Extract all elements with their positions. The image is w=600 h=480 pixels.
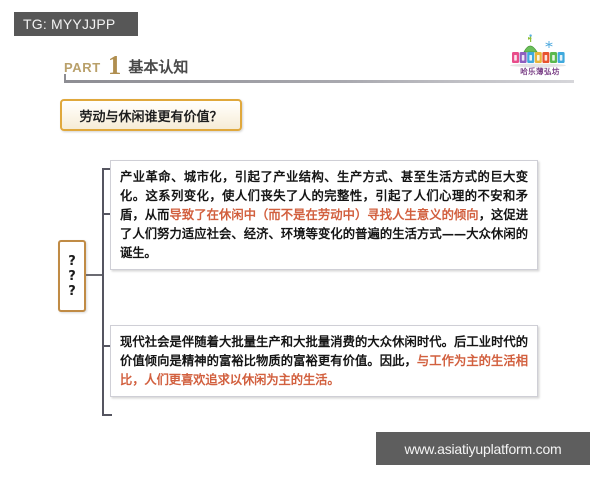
content-box-2: 现代社会是伴随着大批量生产和大批量消费的大众休闲时代。后工业时代的价值倾向是精神… (110, 325, 538, 397)
footer-url-bar: www.asiatiyuplatform.com (376, 432, 590, 465)
question-mark-2: ? (68, 269, 76, 284)
part-heading: PART 1 基本认知 (64, 48, 188, 79)
question-mark-3: ? (68, 284, 76, 299)
footer-url-text: www.asiatiyuplatform.com (404, 441, 561, 457)
question-banner-text: 劳动与休闲谁更有价值？ (79, 106, 222, 125)
bracket-arm-bottom (102, 414, 112, 416)
question-mark-box: ? ? ? (58, 240, 86, 312)
highlighted-run: 导致了在休闲中（而不是在劳动中）寻找人生意义的倾向 (169, 208, 478, 222)
logo-caption: 哈乐薄弘坊 (504, 66, 576, 77)
part-label: PART (64, 60, 101, 75)
brand-logo: 哈乐薄弘坊 (504, 32, 576, 80)
question-banner: 劳动与休闲谁更有价值？ (60, 99, 242, 131)
telegram-watermark-badge: TG: MYYJJPP (14, 12, 138, 36)
part-title: 基本认知 (128, 56, 188, 77)
slide-canvas: TG: MYYJJPP PART 1 基本认知 (0, 0, 600, 480)
content-box-1: 产业革命、城市化，引起了产业结构、生产方式、甚至生活方式的巨大变化。这系列变化，… (110, 160, 538, 270)
content-box-2-text: 现代社会是伴随着大批量生产和大批量消费的大众休闲时代。后工业时代的价值倾向是精神… (120, 333, 528, 390)
part-number: 1 (108, 50, 122, 81)
question-mark-1: ? (68, 254, 76, 269)
content-box-1-text: 产业革命、城市化，引起了产业结构、生产方式、甚至生活方式的巨大变化。这系列变化，… (120, 168, 528, 263)
bracket-spine (102, 168, 104, 416)
header-divider-rule (64, 80, 574, 83)
